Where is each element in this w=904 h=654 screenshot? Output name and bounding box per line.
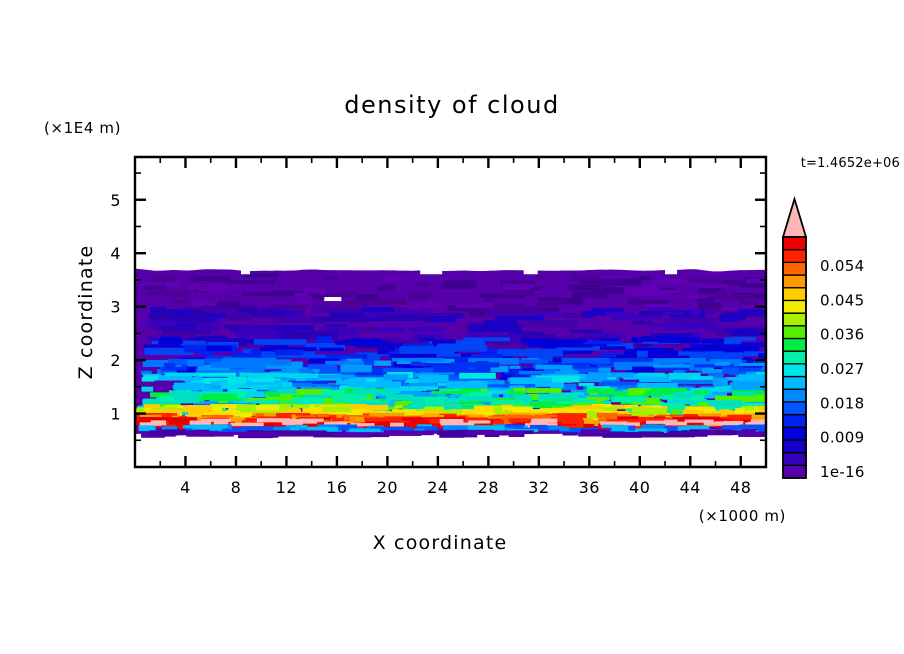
colorbar-band xyxy=(783,338,806,351)
colorbar-band xyxy=(783,326,806,339)
colorbar-band xyxy=(783,250,806,263)
y-tick-label: 5 xyxy=(110,191,121,210)
colorbar-band xyxy=(783,453,806,466)
x-tick-label: 4 xyxy=(180,478,191,497)
colorbar-band xyxy=(783,262,806,275)
colorbar-band xyxy=(783,427,806,440)
colorbar-band xyxy=(783,300,806,313)
colorbar-tick-label: 0.027 xyxy=(820,360,864,378)
colorbar-tick-label: 0.054 xyxy=(820,257,864,275)
colorbar-band xyxy=(783,377,806,390)
contour-plot-field xyxy=(135,269,807,467)
x-tick-label: 28 xyxy=(478,478,499,497)
x-tick-label: 12 xyxy=(276,478,297,497)
y-axis-unit-label: (×1E4 m) xyxy=(44,119,121,137)
colorbar-tick-label: 0.018 xyxy=(820,394,864,412)
x-axis-unit-label: (×1000 m) xyxy=(699,507,786,525)
colorbar-band xyxy=(783,440,806,453)
colorbar-band xyxy=(783,237,806,250)
colorbar-band xyxy=(783,415,806,428)
colorbar-band xyxy=(783,275,806,288)
colorbar-band xyxy=(783,402,806,415)
x-tick-label: 44 xyxy=(680,478,701,497)
x-tick-label: 16 xyxy=(326,478,347,497)
x-tick-label: 40 xyxy=(629,478,650,497)
y-tick-label: 3 xyxy=(110,298,121,317)
colorbar-band xyxy=(783,389,806,402)
colorbar-tick-label: 0.009 xyxy=(820,429,864,447)
colorbar-band xyxy=(783,465,806,478)
time-annotation: t=1.4652e+06 xyxy=(801,156,900,171)
x-tick-label: 32 xyxy=(528,478,549,497)
colorbar-band xyxy=(783,288,806,301)
y-tick-label: 2 xyxy=(110,351,121,370)
colorbar-band xyxy=(783,351,806,364)
y-tick-label: 1 xyxy=(110,405,121,424)
x-axis-title: X coordinate xyxy=(373,532,508,554)
colorbar[interactable] xyxy=(783,199,806,478)
contour-figure: density of cloud (×1E4 m) t=1.4652e+06 4… xyxy=(0,0,904,654)
colorbar-band xyxy=(783,364,806,377)
x-tick-label: 24 xyxy=(427,478,448,497)
colorbar-tick-label: 0.045 xyxy=(820,291,864,309)
y-axis-title: Z coordinate xyxy=(75,245,97,380)
colorbar-band xyxy=(783,313,806,326)
x-tick-label: 20 xyxy=(377,478,398,497)
y-tick-label: 4 xyxy=(110,244,121,263)
x-tick-label: 48 xyxy=(730,478,751,497)
page-title: density of cloud xyxy=(344,91,559,119)
x-tick-label: 8 xyxy=(231,478,242,497)
colorbar-tick-label: 0.036 xyxy=(820,326,864,344)
x-tick-label: 36 xyxy=(579,478,600,497)
colorbar-tick-label: 1e-16 xyxy=(820,463,865,481)
